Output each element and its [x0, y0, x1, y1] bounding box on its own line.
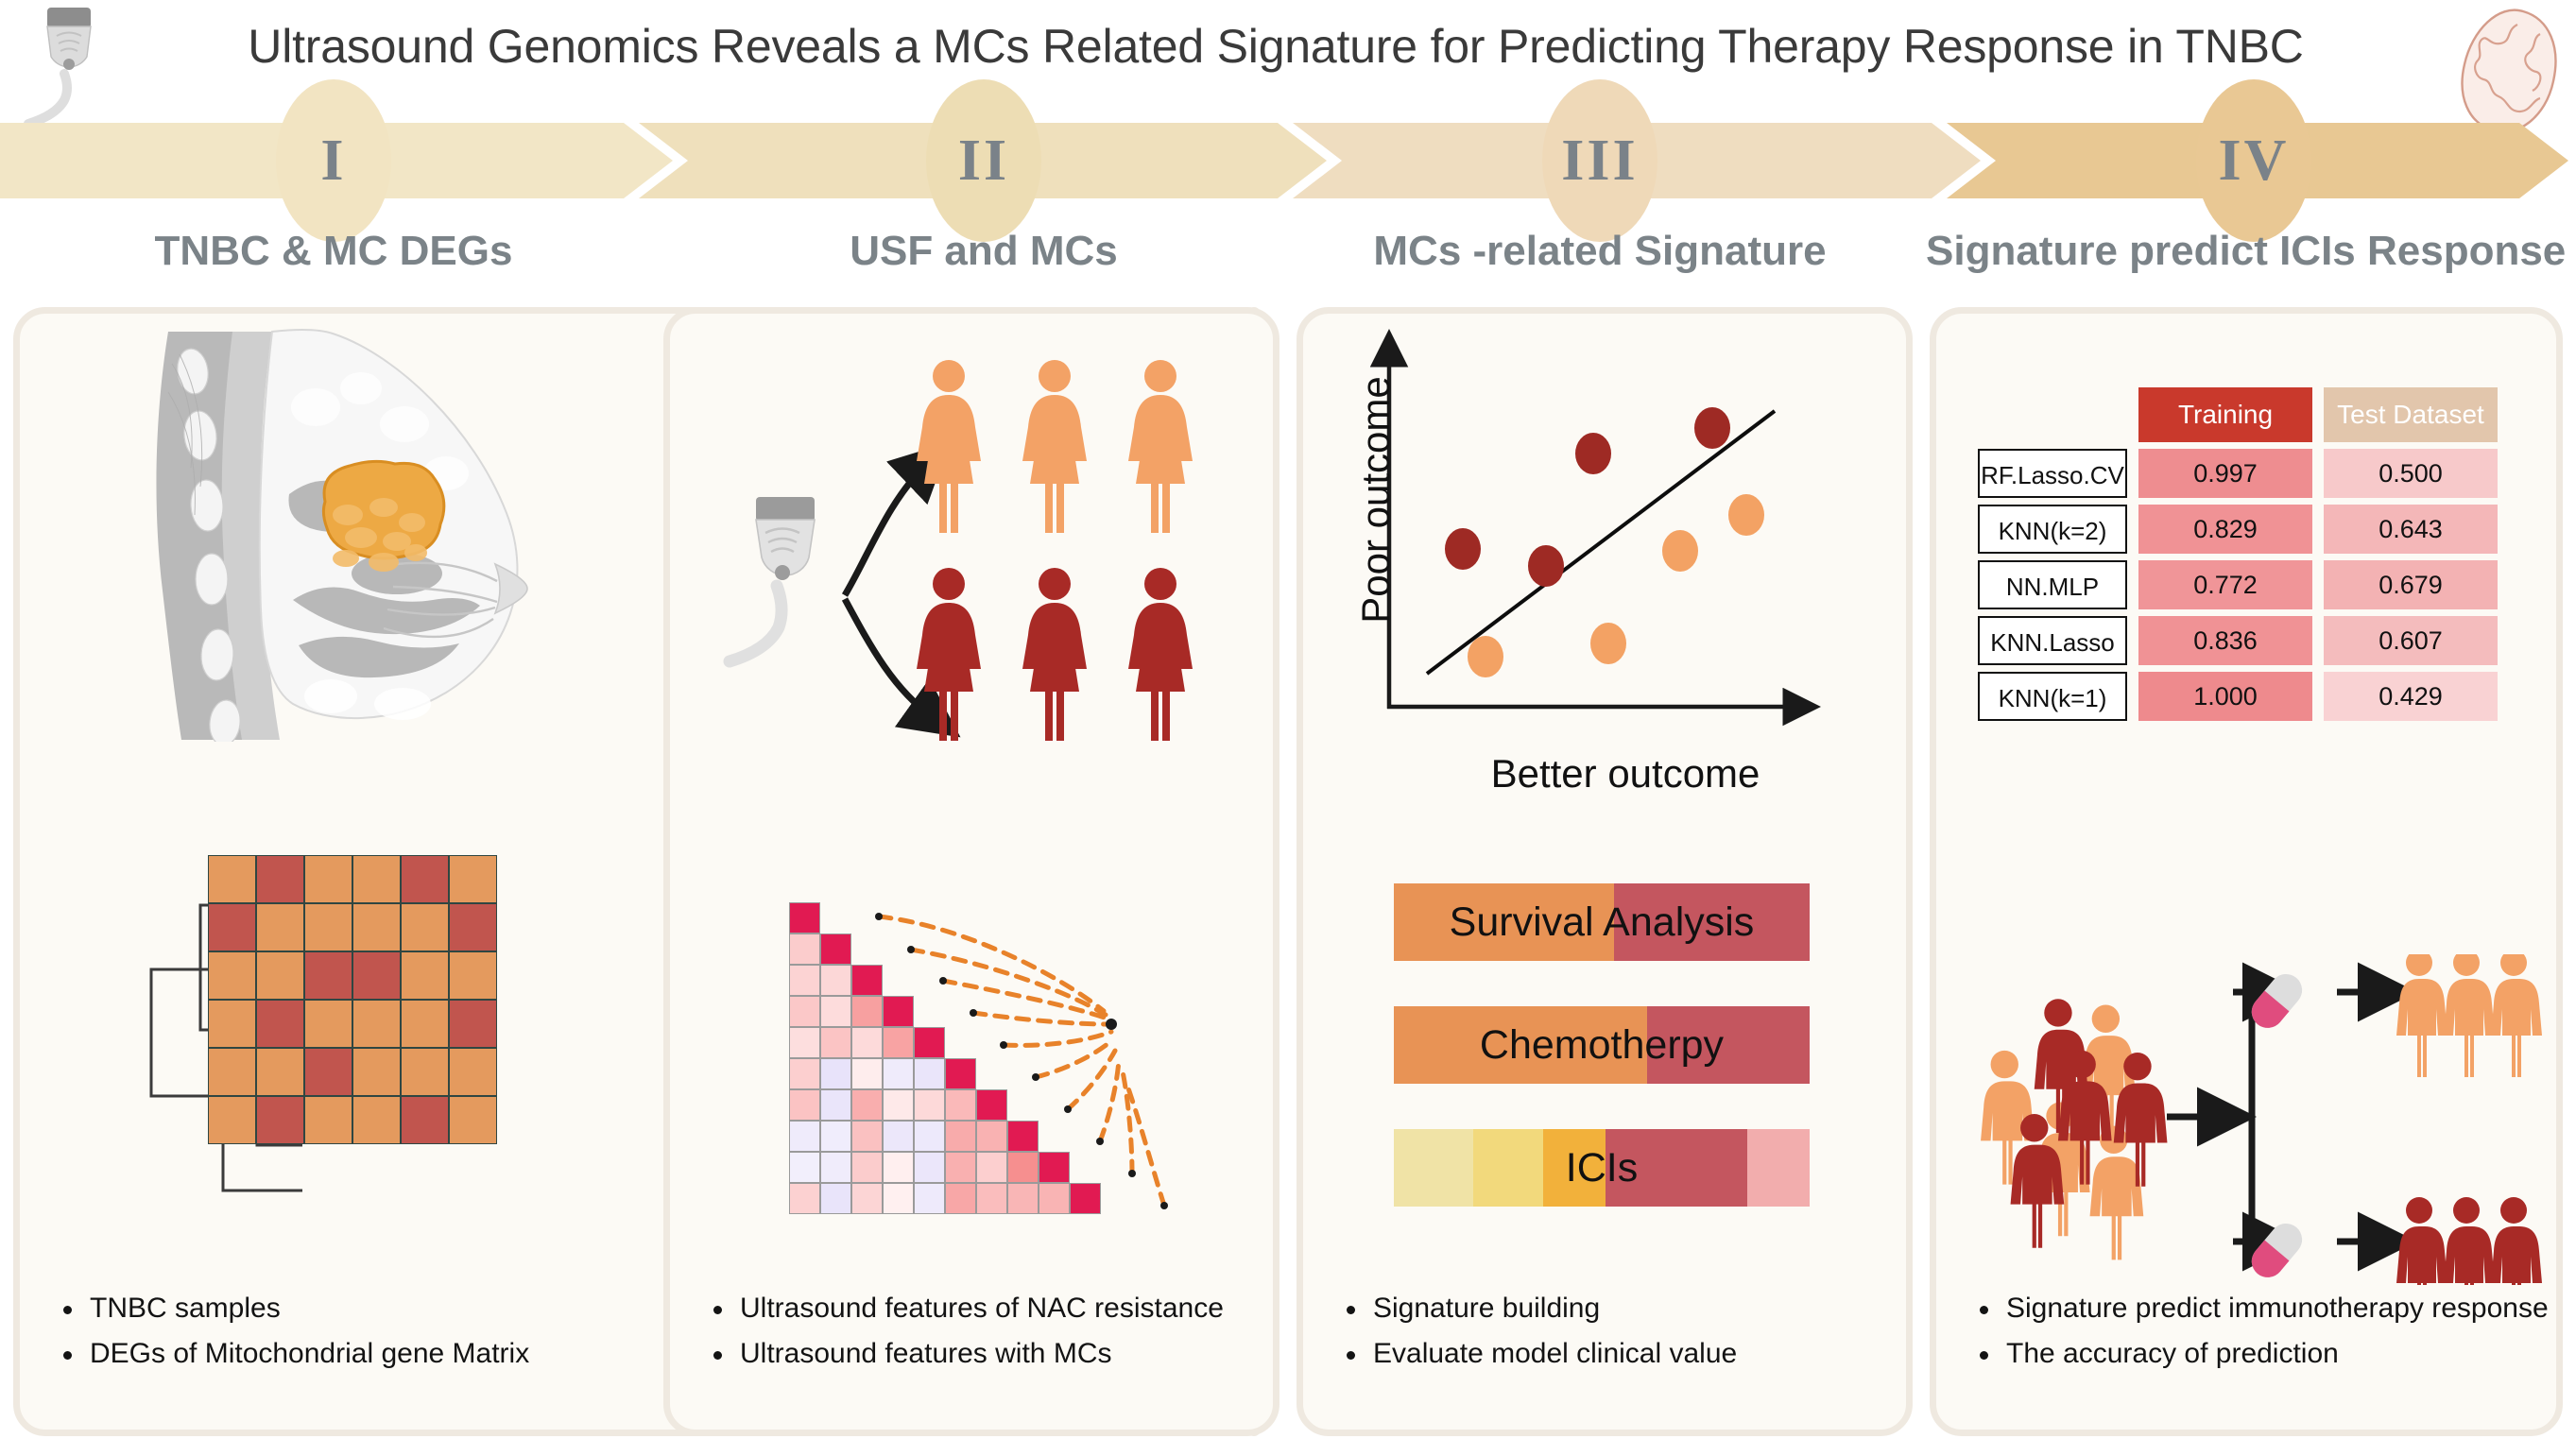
heatmap-cell — [401, 855, 449, 903]
scatter-point — [1590, 623, 1626, 664]
stage-title-3: MCs -related Signature — [1316, 227, 1883, 276]
scatter-point — [1694, 407, 1730, 449]
heatmap-cell — [304, 1096, 352, 1144]
heatmap-cell — [304, 903, 352, 951]
heatmap-cell — [401, 1000, 449, 1048]
table-model-name: KNN(k=1) — [1978, 672, 2127, 721]
heatmap-cell — [352, 1000, 401, 1048]
stage-badge-2: II — [926, 79, 1041, 242]
segbar-survival: Survival Analysis — [1394, 883, 1810, 961]
table-model-name: NN.MLP — [1978, 560, 2127, 609]
y-axis-label: Poor outcome — [1353, 349, 1399, 651]
table-corner-cell — [1978, 390, 2127, 439]
table-test-value: 0.607 — [2324, 616, 2498, 665]
scatter-point — [1468, 636, 1503, 677]
ultrasound-probe-icon — [15, 2, 119, 136]
scatter-plot: Poor outcome Better outcome — [1323, 326, 1909, 798]
scatter-point — [1728, 494, 1764, 536]
converging-dashed-arrows — [820, 898, 1217, 1266]
heatmap-cell — [449, 855, 497, 903]
stage-title-4: Signature predict ICIs Response — [1926, 227, 2538, 276]
corr-cell — [789, 934, 820, 965]
corr-cell — [789, 1058, 820, 1089]
table-train-value: 0.772 — [2138, 560, 2312, 609]
table-row: NN.MLP0.7720.679 — [1978, 560, 2498, 609]
segbar-chemo-label: Chemotherpy — [1394, 1006, 1810, 1084]
scatter-point — [1575, 433, 1611, 474]
mitochondrion-icon — [2449, 6, 2565, 140]
nonresponder-group — [2396, 1197, 2542, 1285]
table-model-name: KNN(k=2) — [1978, 505, 2127, 554]
breast-anatomy-illustration — [113, 326, 558, 742]
corr-cell — [789, 1183, 820, 1214]
heatmap-row — [208, 1096, 497, 1144]
panel-2-bullets: Ultrasound features of NAC resistance Ul… — [712, 1286, 1224, 1377]
heatmap-cell — [304, 1000, 352, 1048]
heatmap-cell — [208, 903, 256, 951]
heatmap-cell — [352, 1096, 401, 1144]
panel-3-bullets: Signature building Evaluate model clinic… — [1345, 1286, 1737, 1377]
segbar-survival-label: Survival Analysis — [1394, 883, 1810, 961]
heatmap-cell — [208, 1048, 256, 1096]
corr-cell — [789, 1027, 820, 1058]
scatter-point — [1662, 530, 1698, 572]
stage-flow-band: I II III IV — [0, 123, 2576, 198]
bullet-item: Evaluate model clinical value — [1345, 1331, 1737, 1377]
bullet-item: Ultrasound features with MCs — [712, 1331, 1224, 1377]
table-model-name: RF.Lasso.CV — [1978, 449, 2127, 498]
patient-crowd — [1981, 999, 2167, 1259]
female-figures-red — [913, 565, 1225, 741]
table-train-value: 0.836 — [2138, 616, 2312, 665]
heatmap-cell — [401, 951, 449, 1000]
heatmap-row — [208, 855, 497, 903]
corr-cell — [789, 965, 820, 996]
scatter-point — [1528, 545, 1564, 587]
stage-badge-1: I — [276, 79, 391, 242]
corr-cell — [789, 996, 820, 1027]
heatmap-cell — [352, 951, 401, 1000]
bullet-item: Signature building — [1345, 1286, 1737, 1331]
page-title: Ultrasound Genomics Reveals a MCs Relate… — [142, 15, 2410, 77]
heatmap-cell — [208, 855, 256, 903]
table-row: KNN.Lasso0.8360.607 — [1978, 616, 2498, 665]
stage-title-2: USF and MCs — [700, 227, 1267, 276]
panel-4-bullets: Signature predict immunotherapy response… — [1978, 1286, 2549, 1377]
heatmap-row — [208, 903, 497, 951]
table-column-header: Test Dataset — [2324, 387, 2498, 442]
heatmap-cell — [401, 1096, 449, 1144]
heatmap-cell — [304, 1048, 352, 1096]
heatmap-row — [208, 951, 497, 1000]
table-test-value: 0.500 — [2324, 449, 2498, 498]
model-accuracy-table: Training DatasetTest DatasetRF.Lasso.CV0… — [1978, 387, 2498, 728]
table-row: RF.Lasso.CV0.9970.500 — [1978, 449, 2498, 498]
heatmap-cell — [449, 1096, 497, 1144]
segbar-icis-label: ICIs — [1394, 1129, 1810, 1207]
heatmap-cell — [256, 855, 304, 903]
heatmap-cell — [256, 951, 304, 1000]
table-test-value: 0.643 — [2324, 505, 2498, 554]
responder-group — [2396, 954, 2542, 1077]
corr-cell — [789, 1121, 820, 1152]
heatmap-cell — [208, 951, 256, 1000]
heatmap-cell — [401, 903, 449, 951]
table-train-value: 0.997 — [2138, 449, 2312, 498]
heatmap-row — [208, 1000, 497, 1048]
scatter-point — [1445, 528, 1481, 570]
stage-badge-3: III — [1542, 79, 1657, 242]
table-train-value: 0.829 — [2138, 505, 2312, 554]
heatmap-cell — [449, 951, 497, 1000]
bullet-item: Ultrasound features of NAC resistance — [712, 1286, 1224, 1331]
heatmap-row — [208, 1048, 497, 1096]
heatmap-cell — [256, 1048, 304, 1096]
clustered-heatmap — [208, 855, 497, 1144]
heatmap-cell — [208, 1000, 256, 1048]
heatmap-cell — [256, 1096, 304, 1144]
cohort-split-illustration — [1980, 954, 2547, 1285]
corr-cell — [789, 1152, 820, 1183]
table-test-value: 0.429 — [2324, 672, 2498, 721]
segbar-icis: ICIs — [1394, 1129, 1810, 1207]
x-axis-label: Better outcome — [1380, 751, 1871, 797]
stage-badge-4: IV — [2196, 79, 2311, 242]
heatmap-cell — [304, 855, 352, 903]
bullet-item: DEGs of Mitochondrial gene Matrix — [61, 1331, 529, 1377]
stage-numeral-2: II — [958, 131, 1009, 190]
heatmap-cell — [208, 1096, 256, 1144]
heatmap-cell — [256, 903, 304, 951]
stage-numeral-1: I — [320, 131, 346, 190]
heatmap-cell — [352, 1048, 401, 1096]
tumor-mass — [323, 461, 443, 572]
table-column-header: Training Dataset — [2138, 387, 2312, 442]
corr-cell — [789, 1089, 820, 1121]
table-model-name: KNN.Lasso — [1978, 616, 2127, 665]
table-train-value: 1.000 — [2138, 672, 2312, 721]
heatmap-cell — [304, 951, 352, 1000]
table-row: KNN(k=1)1.0000.429 — [1978, 672, 2498, 721]
heatmap-cell — [256, 1000, 304, 1048]
table-row: KNN(k=2)0.8290.643 — [1978, 505, 2498, 554]
stage-numeral-3: III — [1561, 131, 1638, 190]
bullet-item: Signature predict immunotherapy response — [1978, 1286, 2549, 1331]
heatmap-cell — [449, 903, 497, 951]
panel-1-bullets: TNBC samples DEGs of Mitochondrial gene … — [61, 1286, 529, 1377]
female-figures-orange — [913, 357, 1225, 533]
corr-cell — [789, 902, 820, 934]
table-header-row: Training DatasetTest Dataset — [1978, 387, 2498, 442]
heatmap-cell — [352, 855, 401, 903]
stage-title-1: TNBC & MC DEGs — [50, 227, 617, 276]
heatmap-cell — [401, 1048, 449, 1096]
heatmap-cell — [449, 1048, 497, 1096]
stage-numeral-4: IV — [2219, 131, 2290, 190]
heatmap-cell — [449, 1000, 497, 1048]
segbar-chemo: Chemotherpy — [1394, 1006, 1810, 1084]
heatmap-cell — [352, 903, 401, 951]
bullet-item: TNBC samples — [61, 1286, 529, 1331]
bullet-item: The accuracy of prediction — [1978, 1331, 2549, 1377]
table-test-value: 0.679 — [2324, 560, 2498, 609]
